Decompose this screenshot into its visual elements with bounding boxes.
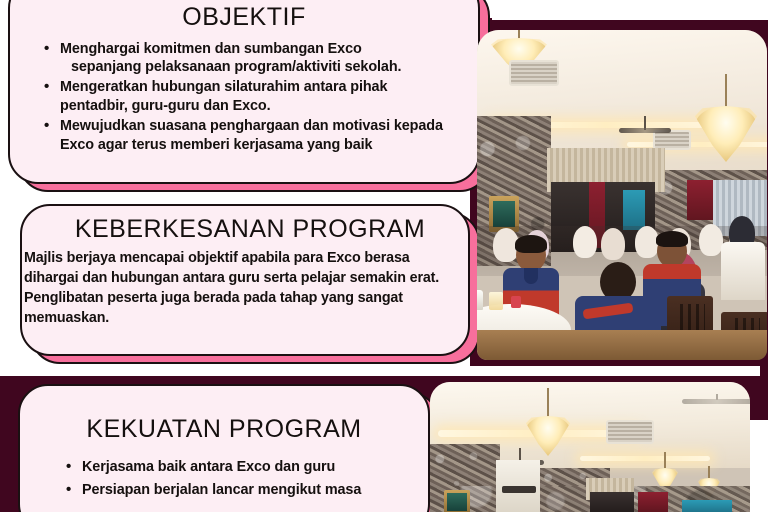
bullet-item: Persiapan berjalan lancar mengikut masa bbox=[66, 481, 414, 499]
ceiling-vent bbox=[509, 60, 559, 86]
card-kekuatan-inner: KEKUATAN PROGRAM Kerjasama baik antara E… bbox=[20, 386, 428, 512]
card-kekuatan-bullet-list: Kerjasama baik antara Exco dan guru Pers… bbox=[34, 458, 414, 500]
card-kekuatan-title: KEKUATAN PROGRAM bbox=[34, 416, 414, 444]
background-white-mid-strip bbox=[0, 366, 760, 376]
card-objektif-title: OBJEKTIF bbox=[24, 4, 464, 32]
ceiling-fan-icon bbox=[619, 116, 671, 134]
red-panel bbox=[638, 492, 668, 512]
bullet-line-1: Mewujudkan suasana penghargaan dan motiv… bbox=[60, 118, 443, 134]
photo-hall-top-scene bbox=[477, 30, 767, 360]
chandelier-rod bbox=[725, 74, 727, 108]
poster-canvas: OBJEKTIF Menghargai komitmen dan sumbang… bbox=[0, 0, 768, 512]
framed-picture bbox=[444, 490, 470, 512]
student-collar bbox=[524, 268, 538, 284]
bullet-item: Kerjasama baik antara Exco dan guru bbox=[66, 458, 414, 476]
bullet-item: Mewujudkan suasana penghargaan dan motiv… bbox=[44, 117, 464, 154]
chandelier-rod bbox=[547, 388, 549, 418]
bullet-line-1: Mengeratkan hubungan silaturahim antara … bbox=[60, 79, 387, 95]
bullet-item: Menghargai komitmen dan sumbangan Exco s… bbox=[44, 40, 464, 77]
chandelier-icon bbox=[491, 30, 547, 50]
chandelier-icon bbox=[698, 466, 720, 486]
student-hair bbox=[515, 235, 547, 253]
bottle bbox=[477, 290, 483, 310]
person-hijab bbox=[601, 228, 625, 260]
chandelier-icon bbox=[526, 388, 570, 428]
cove-light bbox=[627, 142, 767, 147]
bullet-item: Mengeratkan hubungan silaturahim antara … bbox=[44, 78, 464, 115]
ceiling-vent bbox=[606, 420, 654, 444]
fan-blades bbox=[619, 128, 671, 133]
condiment bbox=[511, 296, 521, 308]
floor bbox=[477, 330, 767, 360]
cove-light bbox=[580, 456, 710, 461]
chandelier-icon bbox=[652, 452, 678, 476]
ceiling-fan-icon bbox=[682, 394, 750, 410]
card-keberkesanan: KEBERKESANAN PROGRAM Majlis berjaya menc… bbox=[20, 204, 470, 356]
background-white-right-strip bbox=[748, 420, 768, 512]
bullet-line-1: Menghargai komitmen dan sumbangan Exco bbox=[60, 41, 362, 57]
photo-banquet-hall-top bbox=[477, 30, 767, 360]
wall-fixture bbox=[502, 486, 536, 493]
person-hijab bbox=[573, 226, 597, 258]
card-keberkesanan-inner: KEBERKESANAN PROGRAM Majlis berjaya menc… bbox=[22, 206, 468, 354]
card-kekuatan: KEKUATAN PROGRAM Kerjasama baik antara E… bbox=[18, 384, 430, 512]
background-white-top-strip bbox=[492, 0, 768, 20]
fan-blades bbox=[682, 399, 750, 404]
chandelier-rod bbox=[708, 466, 710, 480]
photo-banquet-hall-bottom bbox=[430, 382, 750, 512]
card-objektif-bullet-list: Menghargai komitmen dan sumbangan Exco s… bbox=[24, 40, 464, 155]
drinking-glass bbox=[489, 292, 503, 310]
card-objektif-inner: OBJEKTIF Menghargai komitmen dan sumbang… bbox=[10, 0, 478, 182]
person-hijab bbox=[699, 224, 723, 256]
card-keberkesanan-title: KEBERKESANAN PROGRAM bbox=[36, 216, 454, 244]
bullet-line-1: Kerjasama baik antara Exco dan guru bbox=[82, 459, 335, 475]
card-objektif: OBJEKTIF Menghargai komitmen dan sumbang… bbox=[8, 0, 480, 184]
bullet-line-2: pentadbir, guru-guru dan Exco. bbox=[60, 97, 464, 115]
chandelier-rod bbox=[664, 452, 666, 470]
bullet-line-1: Persiapan berjalan lancar mengikut masa bbox=[82, 482, 361, 498]
banquet-chair-white bbox=[721, 242, 765, 300]
card-keberkesanan-paragraph: Majlis berjaya mencapai objektif apabila… bbox=[24, 248, 454, 329]
bullet-line-2: Exco agar terus memberi kerjasama yang b… bbox=[60, 136, 464, 154]
photo-hall-bottom-scene bbox=[430, 382, 750, 512]
teal-panel bbox=[682, 500, 732, 512]
shopfront-dark bbox=[590, 492, 634, 512]
chandelier-icon bbox=[695, 74, 757, 130]
student-hair bbox=[656, 231, 688, 247]
bullet-line-2: sepanjang pelaksanaan program/aktiviti s… bbox=[60, 58, 464, 76]
teal-panel bbox=[623, 190, 645, 230]
